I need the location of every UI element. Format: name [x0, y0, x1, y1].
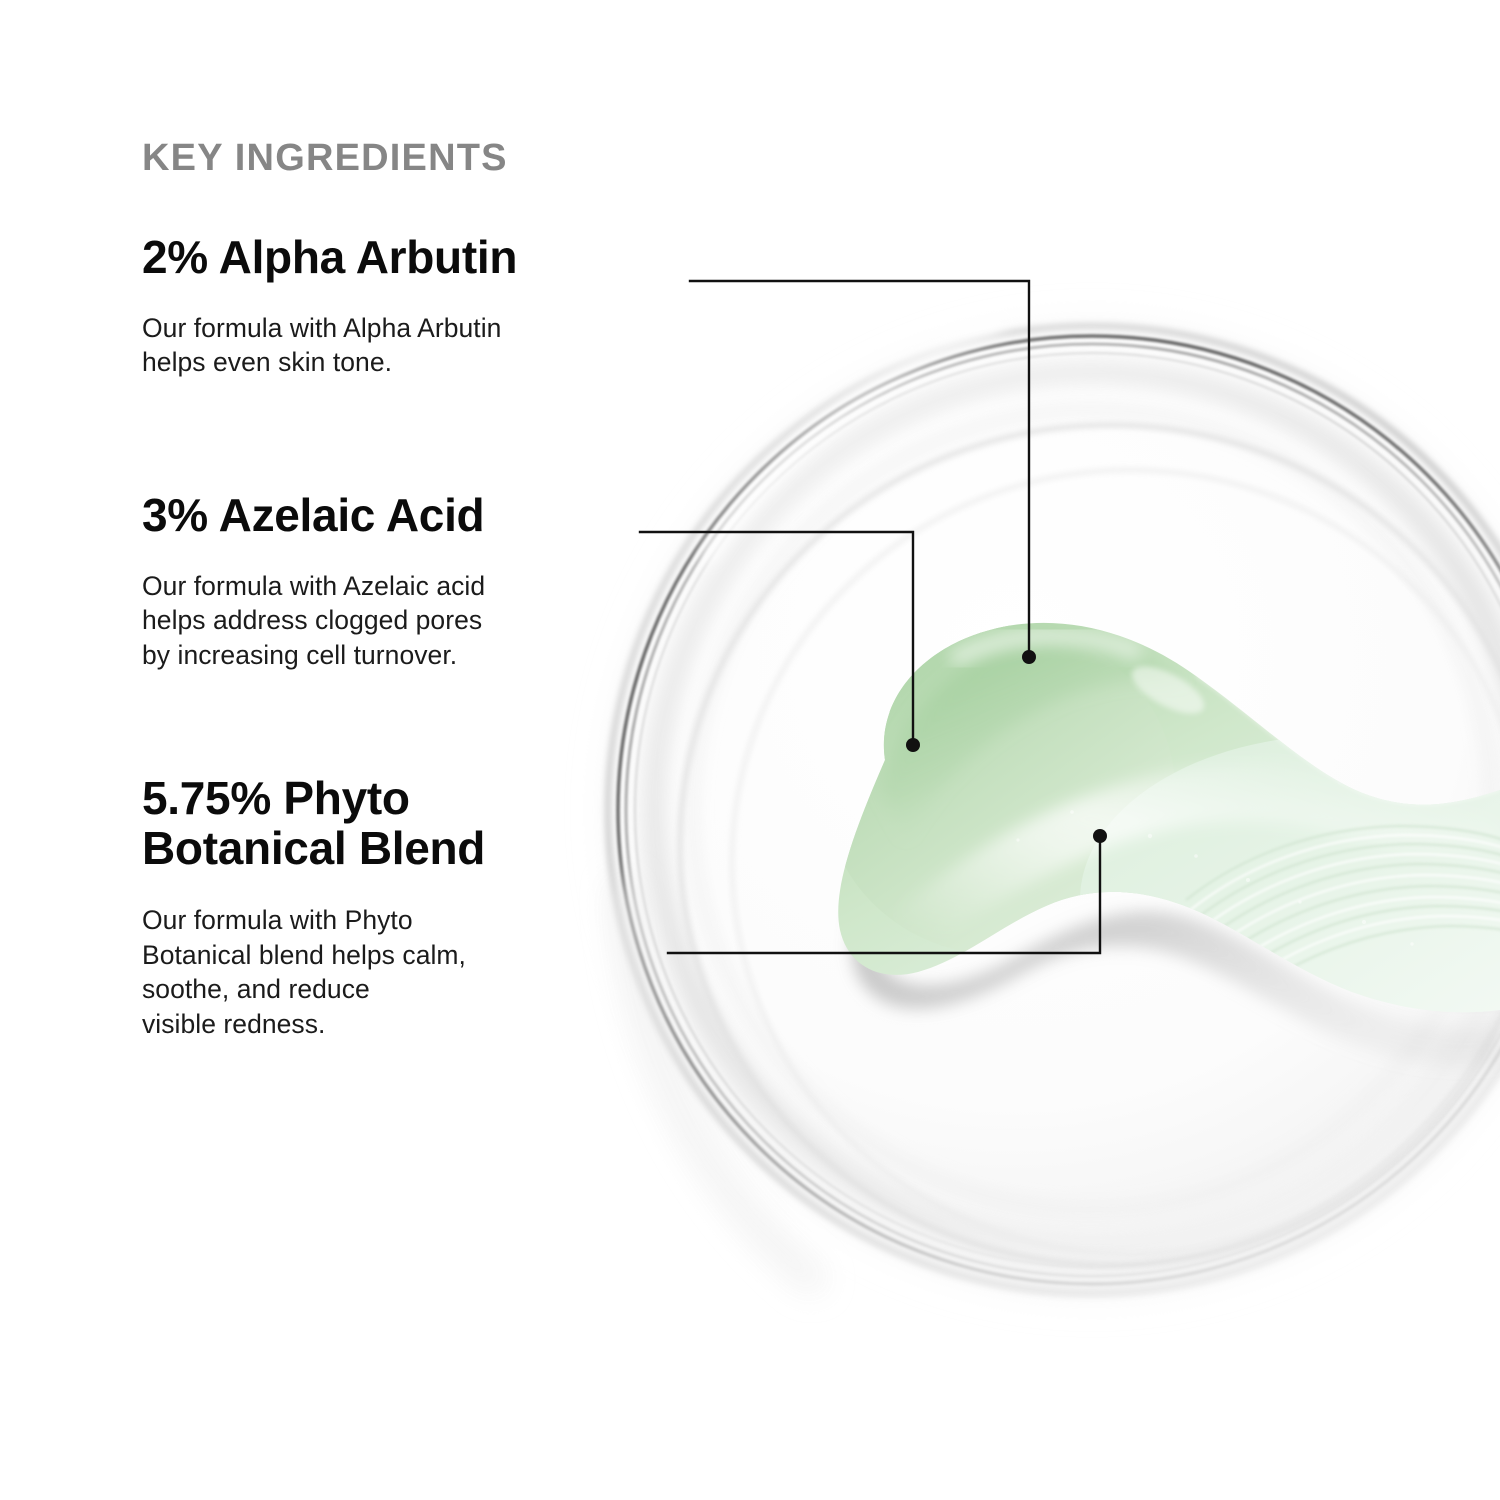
page-title: KEY INGREDIENTS [142, 139, 508, 177]
leader-line-alpha-arbutin-endpoint-dot [1022, 650, 1036, 664]
ingredient-description: Our formula with Phyto Botanical blend h… [142, 903, 485, 1041]
ingredient-title: 2% Alpha Arbutin [142, 233, 517, 283]
ingredient-description: Our formula with Alpha Arbutin helps eve… [142, 311, 517, 380]
leader-line-alpha-arbutin [690, 281, 1029, 657]
infographic-canvas: KEY INGREDIENTS 2% Alpha Arbutin Our for… [0, 0, 1500, 1500]
leader-line-azelaic-acid-endpoint-dot [906, 738, 920, 752]
ingredient-text-column: KEY INGREDIENTS 2% Alpha Arbutin Our for… [0, 0, 720, 1500]
leader-line-phyto-botanical-endpoint-dot [1093, 829, 1107, 843]
ingredient-title: 5.75% Phyto Botanical Blend [142, 774, 485, 873]
ingredient-block-alpha-arbutin: 2% Alpha Arbutin Our formula with Alpha … [142, 233, 517, 380]
leader-line-phyto-botanical [668, 836, 1100, 953]
ingredient-block-phyto-botanical-blend: 5.75% Phyto Botanical Blend Our formula … [142, 774, 485, 1041]
ingredient-title: 3% Azelaic Acid [142, 491, 485, 541]
ingredient-block-azelaic-acid: 3% Azelaic Acid Our formula with Azelaic… [142, 491, 485, 672]
ingredient-description: Our formula with Azelaic acid helps addr… [142, 569, 485, 672]
